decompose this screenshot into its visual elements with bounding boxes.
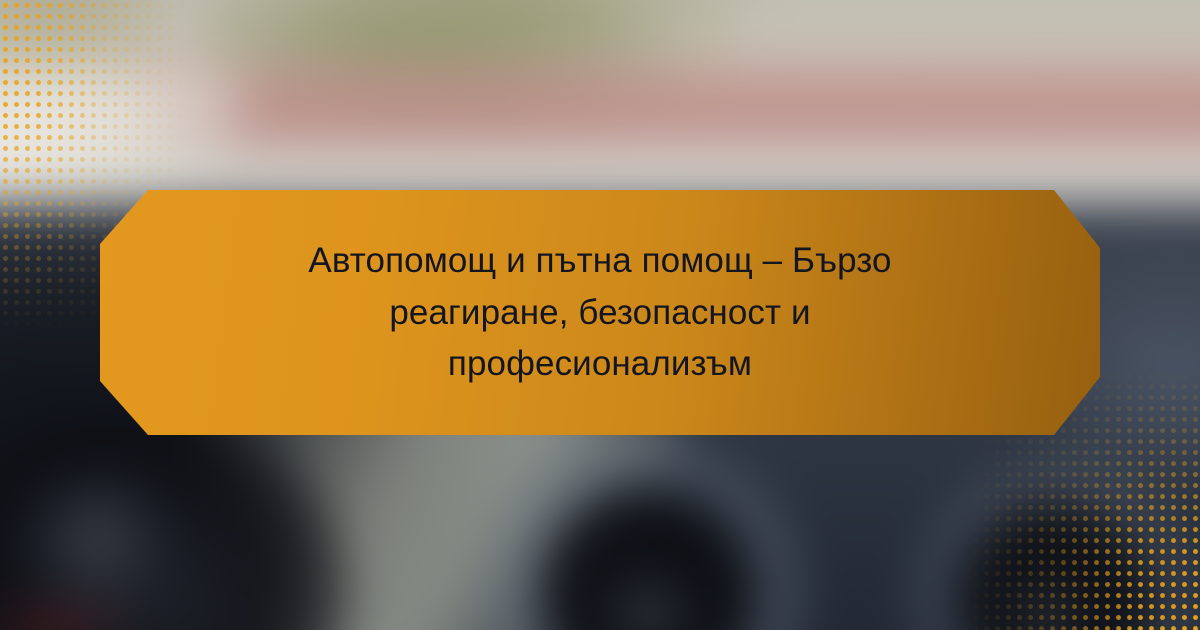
- photo-steering-wheel-hub: [12, 474, 180, 617]
- photo-red-highlight: [0, 601, 138, 630]
- title-banner: Автопомощ и пътна помощ – Бързо реагиран…: [100, 190, 1100, 435]
- og-card: Автопомощ и пътна помощ – Бързо реагиран…: [0, 0, 1200, 630]
- page-title: Автопомощ и пътна помощ – Бързо реагиран…: [250, 235, 950, 390]
